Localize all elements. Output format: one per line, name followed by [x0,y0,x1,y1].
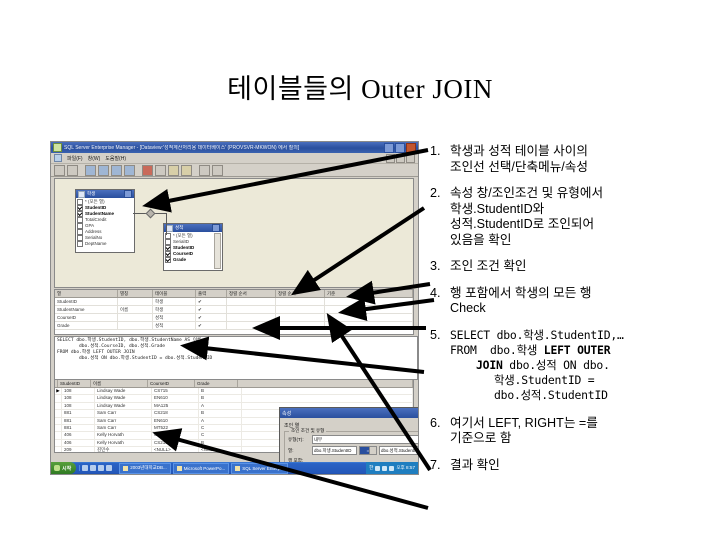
group-icon[interactable] [199,165,210,176]
menu-item-help[interactable]: 도움말(H) [105,155,126,162]
sql-line: SELECT dbo.학생.StudentID,… [450,328,706,343]
grid-col-header[interactable]: 테이블 [153,290,196,297]
run-icon[interactable] [142,165,153,176]
join-type-input[interactable]: 내부 [312,435,419,444]
list-item-line: 학생.StudentID와 [450,202,706,218]
results-cell: 406 [62,440,95,446]
results-cell: MT522 [152,425,199,431]
grid-cell[interactable]: ✔ [196,306,227,313]
grid-cell[interactable] [325,322,413,329]
taskbar-item-label: 2003년대학교DB... [130,465,167,471]
results-col-header[interactable]: 이름 [91,380,148,387]
list-item-line: 결과 확인 [450,458,706,474]
table-box-minimize-icon[interactable] [124,190,132,198]
results-cell: Lindsay Wade [95,395,152,401]
list-item-body: 여기서 LEFT, RIGHT는 =를 기준으로 함 [450,416,706,447]
results-cell: Kelly Horvath [95,432,152,438]
results-cell: 881 [62,410,95,416]
list-item-line: 조인 조건 확인 [450,259,706,275]
grid-cell[interactable] [276,314,325,321]
results-cell: CS218 [152,440,199,446]
results-cell: EN610 [152,418,199,424]
start-button[interactable]: 시작 [51,462,76,474]
results-cell: B [199,440,242,446]
results-cell: 김민수 [95,447,152,453]
table-box-score-header[interactable]: 성적 [164,224,222,232]
list-item-number: 2. [430,186,450,248]
system-tray: 한 오후 8:57 [366,462,418,474]
grid-cell[interactable]: ✔ [196,322,227,329]
table-box-score-title: 성적 [175,225,183,231]
results-cell: B [199,410,242,416]
results-cell: CS715 [152,388,199,394]
results-cell: 881 [62,425,95,431]
taskbar-item[interactable]: 2003년대학교DB... [119,463,171,474]
grid-cell[interactable]: 성적 [153,322,196,329]
sql-line: 학생.StudentID = [450,373,706,388]
join-left-column-input[interactable]: dbo.학생.StudentID [312,446,357,455]
window-buttons [384,143,416,153]
join-condition-group-label: 조인 조건 및 유형 [289,428,326,434]
results-col-header[interactable]: StudentID [58,380,91,387]
results-col-header[interactable]: CourseID [148,380,195,387]
results-cell: CS218 [152,410,199,416]
tray-language-label[interactable]: 한 [369,465,373,471]
grid-row[interactable]: CourseID 성적 ✔ [55,314,413,322]
join-columns-label: 열: [288,448,310,454]
diagram-pane[interactable]: 학생 * (모든 열) StudentID StudentName [54,178,414,288]
list-item-number: 1. [430,144,450,175]
powerpoint-icon [177,466,182,471]
results-cell: Lindsay Wade [95,403,152,409]
show-desktop-icon[interactable] [98,465,104,471]
row-marker [55,447,62,453]
table-icon [78,191,85,198]
table-box-scrollbar[interactable] [214,233,221,269]
list-item-number: 7. [430,458,450,474]
grid-cell[interactable] [325,306,413,313]
list-item-number: 4. [430,286,450,317]
results-cell-null: <NULL> [152,447,199,453]
grid-cell[interactable] [118,322,153,329]
grid-cell[interactable] [276,322,325,329]
table-box-student[interactable]: 학생 * (모든 열) StudentID StudentName [75,189,135,253]
row-marker [55,403,62,409]
list-item-line: 학생과 성적 테이블 사이의 [450,144,706,160]
grid-row[interactable]: Grade 성적 ✔ [55,322,413,330]
join-key-icon[interactable] [146,209,156,219]
list-item-line: 조인선 선택/단축메뉴/속성 [450,160,706,176]
row-marker: ▶ [55,388,62,394]
table-row[interactable]: ▶ 108 Lindsay Wade CS715 B [55,388,413,395]
results-cell: A [199,418,242,424]
sql-pane[interactable]: SELECT dbo.학생.StudentID, dbo.학생.StudentN… [54,336,418,380]
grid-cell[interactable]: StudentID [55,298,118,305]
results-col-filler [238,380,413,387]
list-item-number: 5. [430,328,450,403]
list-item: 3. 조인 조건 확인 [430,259,706,275]
row-marker [55,410,62,416]
grid-row[interactable]: StudentID 학생 ✔ [55,298,413,306]
menu-item-file[interactable]: 파일(F) [67,155,83,162]
grid-pane-icon[interactable] [98,165,109,176]
results-cell: C [199,432,242,438]
join-operator-select[interactable]: = [359,446,377,455]
save-icon[interactable] [54,165,65,176]
windows-logo-icon [54,465,60,471]
mdi-window-buttons [386,154,415,163]
join-line-vertical [166,213,168,235]
grid-cell[interactable]: 학생 [153,306,196,313]
grid-cell[interactable] [227,314,276,321]
grid-cell[interactable] [227,322,276,329]
results-cell: CM418 [152,432,199,438]
grid-cell[interactable]: 이름 [118,306,153,313]
list-item-line: 여기서 LEFT, RIGHT는 =를 [450,416,706,432]
media-player-icon[interactable] [106,465,112,471]
list-item-line: Check [450,301,706,317]
row-marker [55,432,62,438]
window-menu-icon[interactable] [54,154,62,162]
taskbar-item-label: SQL Server Enterp... [242,466,284,471]
grid-col-header[interactable]: 열 [55,290,118,297]
sql-keyword: JOIN [476,358,503,372]
results-cell-filler [242,395,413,401]
results-cell: MA125 [152,403,199,409]
column-label: Grade [173,257,186,263]
results-cell: Kelly Horvath [95,440,152,446]
mdi-close-icon[interactable] [406,154,415,163]
results-cell: 108 [62,395,95,401]
row-marker [55,440,62,446]
folder-icon [123,466,128,471]
results-cell: Lindsay Wade [95,388,152,394]
taskbar: 시작 2003년대학교DB... Microsoft PowerPo... [51,462,419,474]
list-item: 1. 학생과 성적 테이블 사이의 조인선 선택/단축메뉴/속성 [430,144,706,175]
maximize-icon[interactable] [395,143,405,153]
grid-col-header[interactable]: 출력 [196,290,227,297]
join-type-label: 유형(T): [288,437,310,443]
row-marker [55,425,62,431]
page-title: 테이블들의 Outer JOIN [0,76,720,103]
results-cell: 881 [62,418,95,424]
results-cell: B [199,395,242,401]
list-item: 4. 행 포함에서 학생의 모든 행 Check [430,286,706,317]
include-right-rows-label: 성적의 모든 행(R) [314,474,348,475]
grid-col-header[interactable]: 정렬 순서 [276,290,325,297]
sql-text: dbo.성적 ON dbo. [503,358,610,372]
list-item-body: 속성 창/조인조건 및 유형에서 학생.StudentID와 성적.Studen… [450,186,706,248]
list-item-line: 속성 창/조인조건 및 유형에서 [450,186,706,202]
results-cell: A [199,403,242,409]
list-item: 2. 속성 창/조인조건 및 유형에서 학생.StudentID와 성적.Stu… [430,186,706,248]
list-item-number: 3. [430,259,450,275]
dialog-titlebar: 속성 [280,408,419,418]
column-checkbox[interactable] [165,257,171,263]
table-column-row[interactable]: Grade [165,257,221,263]
sort-asc-icon[interactable] [168,165,179,176]
grid-pane[interactable]: 열 별칭 테이블 출력 정렬 순서 정렬 순서 기준 StudentID 학생 … [54,289,414,335]
window-titlebar: SQL Server Enterprise Manager - [Datavie… [51,142,418,153]
list-item-body: 조인 조건 확인 [450,259,706,275]
table-box-student-header[interactable]: 학생 [76,190,134,198]
results-cell: 108 [62,388,95,394]
app-screenshot: SQL Server Enterprise Manager - [Datavie… [50,141,419,475]
database-icon [53,143,62,152]
sql-pane-icon[interactable] [111,165,122,176]
volume-icon[interactable] [375,466,380,471]
ie-icon[interactable] [82,465,88,471]
list-item-line: 성적.StudentID로 조인되어 [450,217,706,233]
print-icon[interactable] [67,165,78,176]
list-item: 7. 결과 확인 [430,458,706,474]
grid-cell[interactable] [227,298,276,305]
grid-cell[interactable]: CourseID [55,314,118,321]
results-col-header[interactable]: Grade [195,380,238,387]
table-box-score[interactable]: 성적 * (모든 열) SerialID StudentID [163,223,223,271]
grid-cell[interactable] [325,298,413,305]
quick-launch-bar [79,465,112,471]
menu-item-window[interactable]: 창(W) [88,155,101,162]
list-item-body: 행 포함에서 학생의 모든 행 Check [450,286,706,317]
menu-bar: 파일(F) 창(W) 도움말(H) [51,153,418,164]
grid-col-header[interactable]: 기준 [325,290,413,297]
sql-keyword: LEFT OUTER [544,343,611,357]
instruction-list: 1. 학생과 성적 테이블 사이의 조인선 선택/단축메뉴/속성 2. 속성 창… [430,144,706,484]
taskbar-item[interactable]: Microsoft PowerPo... [173,463,230,474]
chevron-down-icon[interactable] [369,447,376,454]
results-cell: C [199,425,242,431]
sql-line: dbo.성적 ON dbo.학생.StudentID = dbo.성적.Stud… [57,356,415,362]
sort-desc-icon[interactable] [181,165,192,176]
cancel-icon[interactable] [155,165,166,176]
grid-cell[interactable]: 성적 [153,314,196,321]
outlook-icon[interactable] [90,465,96,471]
table-box-minimize-icon[interactable] [212,224,220,232]
diagram-pane-icon[interactable] [85,165,96,176]
list-item-line: 있음을 확인 [450,233,706,249]
results-cell: 406 [62,432,95,438]
close-icon[interactable] [406,143,416,153]
mdi-minimize-icon[interactable] [386,154,395,163]
list-item-body: 학생과 성적 테이블 사이의 조인선 선택/단축메뉴/속성 [450,144,706,175]
include-right-rows-checkbox[interactable]: 성적의 모든 행(R) [306,474,419,475]
table-row[interactable]: 108 Lindsay Wade EN610 B [55,395,413,402]
row-marker [55,395,62,401]
grid-header-row: 열 별칭 테이블 출력 정렬 순서 정렬 순서 기준 [55,290,413,298]
sql-line: JOIN dbo.성적 ON dbo. [450,358,706,373]
taskbar-item[interactable]: SQL Server Enterp... [231,463,288,474]
start-button-label: 시작 [62,465,71,472]
sql-line: dbo.성적.StudentID [450,388,706,403]
sql-line: FROM dbo.학생 LEFT OUTER [450,343,706,358]
column-label: DeptName [85,241,107,247]
grid-cell[interactable] [118,298,153,305]
mdi-restore-icon[interactable] [396,154,405,163]
tray-clock[interactable]: 오후 8:57 [396,465,415,471]
list-item: 6. 여기서 LEFT, RIGHT는 =를 기준으로 함 [430,416,706,447]
results-cell-null: <NULL> [199,447,242,453]
results-cell: Sam Carr [95,425,152,431]
table-box-student-title: 학생 [87,191,95,197]
task-buttons: 2003년대학교DB... Microsoft PowerPo... SQL S… [119,463,288,474]
column-checkbox[interactable] [77,241,83,247]
results-cell-filler [242,388,413,394]
network-icon[interactable] [382,466,387,471]
sql-text: FROM dbo.학생 [450,343,544,357]
minimize-icon[interactable] [384,143,394,153]
results-cell: EN610 [152,395,199,401]
results-cell: 209 [62,447,95,453]
results-cell: 108 [62,403,95,409]
results-cell: Sam Carr [95,410,152,416]
grid-row[interactable]: StudentName 이름 학생 ✔ [55,306,413,314]
list-item-line: 기준으로 함 [450,431,706,447]
join-columns-row: 열: dbo.학생.StudentID = dbo.성적.StudentID [288,446,419,455]
column-checkbox[interactable] [77,211,83,217]
toolbar [51,164,418,177]
results-pane-icon[interactable] [124,165,135,176]
dialog-title: 속성 [282,410,291,417]
grid-cell[interactable] [227,306,276,313]
grid-cell[interactable] [118,314,153,321]
grid-col-header[interactable]: 별칭 [118,290,153,297]
grid-cell[interactable]: Grade [55,322,118,329]
results-cell: B [199,388,242,394]
properties-icon[interactable] [212,165,223,176]
join-type-row: 유형(T): 내부 [288,435,419,444]
window-title-text: SQL Server Enterprise Manager - [Datavie… [64,145,384,151]
slide-root: 테이블들의 Outer JOIN SQL Server Enterprise M… [0,0,720,540]
grid-cell[interactable]: ✔ [196,314,227,321]
antivirus-icon[interactable] [389,466,394,471]
results-header-row: StudentID 이름 CourseID Grade [55,380,413,388]
taskbar-item-label: Microsoft PowerPo... [184,466,226,471]
sql-server-icon [235,466,240,471]
list-item: 5. SELECT dbo.학생.StudentID,… FROM dbo.학생… [430,328,706,403]
grid-col-header[interactable]: 정렬 순서 [227,290,276,297]
table-column-row[interactable]: DeptName [77,241,133,247]
list-item-body: 결과 확인 [450,458,706,474]
grid-cell[interactable]: ✔ [196,298,227,305]
join-right-column-input[interactable]: dbo.성적.StudentID [379,446,419,455]
row-marker [55,418,62,424]
grid-cell[interactable]: 학생 [153,298,196,305]
list-item-line: 행 포함에서 학생의 모든 행 [450,286,706,302]
list-item-number: 6. [430,416,450,447]
table-box-student-columns: * (모든 열) StudentID StudentName TotalCred… [76,198,134,247]
results-cell: Sam Carr [95,418,152,424]
grid-cell[interactable]: StudentName [55,306,118,313]
grid-cell[interactable] [325,314,413,321]
list-item-body: SELECT dbo.학생.StudentID,… FROM dbo.학생 LE… [450,328,706,403]
checkbox-icon[interactable] [306,474,312,475]
grid-cell[interactable] [276,306,325,313]
grid-cell[interactable] [276,298,325,305]
